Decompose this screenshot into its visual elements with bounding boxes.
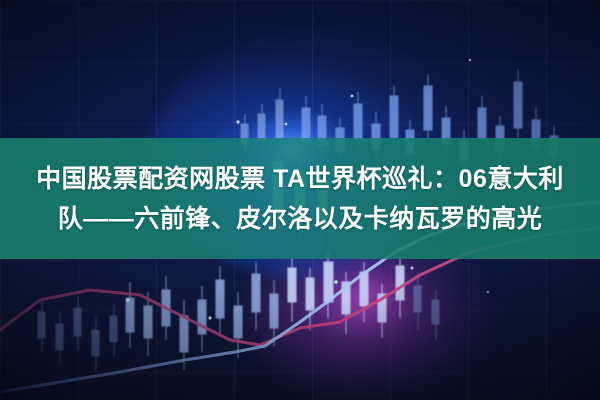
- title-line-2: 队——六前锋、皮尔洛以及卡纳瓦罗的高光: [58, 199, 543, 239]
- title-line-1: 中国股票配资网股票 TA世界杯巡礼：06意大利: [36, 159, 564, 199]
- title-band: 中国股票配资网股票 TA世界杯巡礼：06意大利 队——六前锋、皮尔洛以及卡纳瓦罗…: [0, 138, 600, 259]
- banner-image: 中国股票配资网股票 TA世界杯巡礼：06意大利 队——六前锋、皮尔洛以及卡纳瓦罗…: [0, 0, 600, 400]
